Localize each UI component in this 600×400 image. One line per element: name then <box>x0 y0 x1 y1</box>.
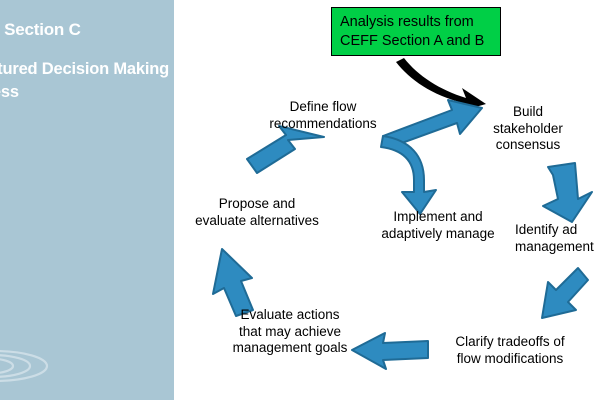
node-label-identify-adaptive-management: Identify ad management <box>515 222 600 255</box>
node-label-line: management <box>515 239 600 256</box>
analysis-results-callout: Analysis results from CEFF Section A and… <box>331 7 501 56</box>
node-label-line: Clarify tradeoffs of <box>434 334 586 351</box>
node-label-line: that may achieve <box>216 324 364 341</box>
node-label-line: Evaluate actions <box>216 307 364 324</box>
node-label-line: consensus <box>468 137 588 154</box>
panel-section-label: CEFF Section C <box>0 20 174 40</box>
node-label-line: Implement and <box>371 209 505 226</box>
node-label-line: Identify ad <box>515 222 600 239</box>
slide-canvas: CEFF Section C Structured Decision Makin… <box>0 0 600 400</box>
node-label-define-flow: Define flow recommendations <box>258 99 388 132</box>
node-label-line: Build <box>468 104 588 121</box>
node-label-implement-adaptively-manage: Implement and adaptively manage <box>371 209 505 242</box>
callout-line-2: CEFF Section A and B <box>340 32 484 51</box>
blue-arrow-up-icon <box>213 249 253 316</box>
blue-arrow-down-right-icon <box>543 163 592 222</box>
node-label-line: flow modifications <box>434 351 586 368</box>
curved-blue-arrow-icon <box>381 136 436 214</box>
blue-arrow-up-right-icon <box>247 126 324 173</box>
panel-subtitle: Structured Decision Making Process <box>0 58 174 104</box>
title-panel: CEFF Section C Structured Decision Makin… <box>0 0 174 400</box>
node-label-line: stakeholder <box>468 121 588 138</box>
node-label-evaluate-actions: Evaluate actions that may achieve manage… <box>216 307 364 357</box>
node-label-build-consensus: Build stakeholder consensus <box>468 104 588 154</box>
node-label-line: recommendations <box>258 116 388 133</box>
node-label-line: management goals <box>216 340 364 357</box>
node-label-line: Propose and <box>183 196 331 213</box>
node-label-clarify-tradeoffs: Clarify tradeoffs of flow modifications <box>434 334 586 367</box>
node-label-line: evaluate alternatives <box>183 213 331 230</box>
node-label-line: Define flow <box>258 99 388 116</box>
callout-line-1: Analysis results from <box>340 13 474 32</box>
node-label-line: adaptively manage <box>371 226 505 243</box>
blue-arrow-down-left-icon <box>542 268 588 318</box>
node-label-propose-alternatives: Propose and evaluate alternatives <box>183 196 331 229</box>
water-ripple-icon <box>0 326 110 396</box>
